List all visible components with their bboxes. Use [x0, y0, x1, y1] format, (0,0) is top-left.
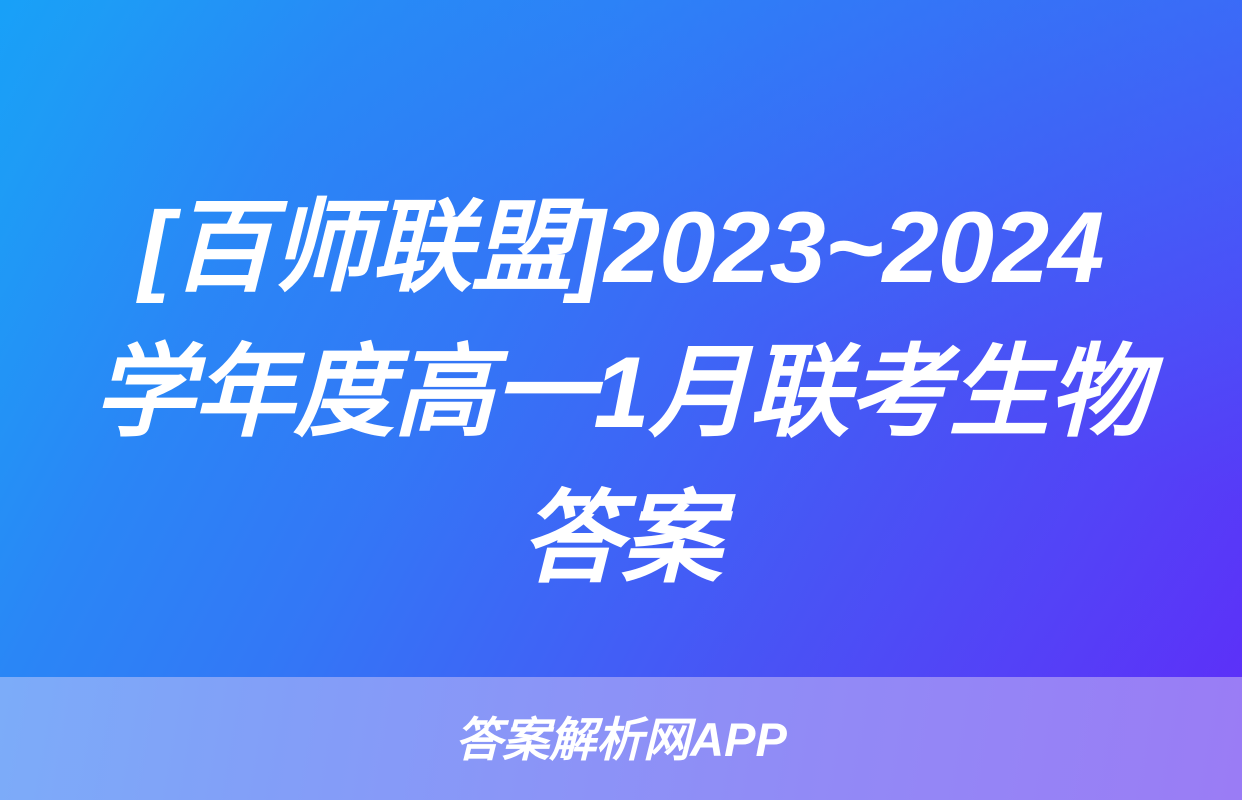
- title-line-1: [百师联盟]2023~2024: [52, 176, 1190, 321]
- answer-cover-poster: [百师联盟]2023~2024 学年度高一1月联考生物 答案 答案解析网APP: [0, 0, 1242, 800]
- footer-watermark-bar: 答案解析网APP: [0, 677, 1242, 800]
- app-watermark-label: 答案解析网APP: [455, 716, 787, 763]
- title-line-3: 答案: [52, 467, 1190, 612]
- poster-title: [百师联盟]2023~2024 学年度高一1月联考生物 答案: [0, 176, 1242, 612]
- title-line-2: 学年度高一1月联考生物: [52, 321, 1190, 466]
